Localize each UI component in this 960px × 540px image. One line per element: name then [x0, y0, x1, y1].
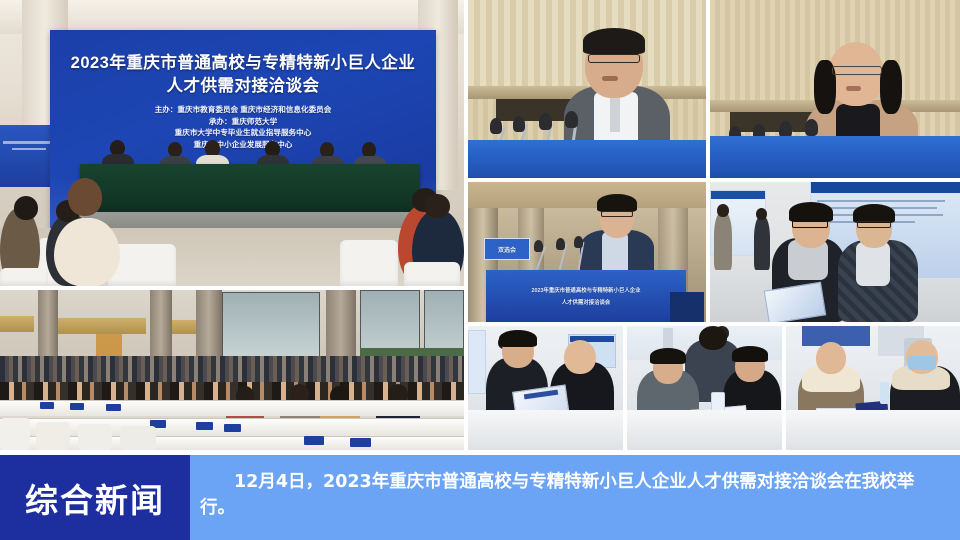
- photo-podium-speaker: 双选会 2023年重庆市普通高校与专精特新小巨人企业 人才供需对接洽谈会: [468, 182, 706, 322]
- photo-audience-hall: [0, 290, 464, 450]
- backdrop-sub-line1: 主办：重庆市教育委员会 重庆市经济和信息化委员会: [50, 104, 436, 116]
- caption-text: 12月4日，2023年重庆市普通高校与专精特新小巨人企业人才供需对接洽谈会在我校…: [200, 469, 942, 521]
- photo-press-conference: 2023年重庆市普通高校与专精特新小巨人企业 人才供需对接洽谈会 主办：重庆市教…: [0, 0, 464, 286]
- backdrop-sub-line3: 重庆市大学中专毕业生就业指导服务中心: [50, 127, 436, 139]
- caption-bar: 综合新闻 12月4日，2023年重庆市普通高校与专精特新小巨人企业人才供需对接洽…: [0, 455, 960, 540]
- rostrum: [468, 140, 706, 178]
- backdrop-sub-line2: 承办：重庆师范大学: [50, 116, 436, 128]
- photo-booth-signing: [627, 326, 782, 450]
- news-category-badge: 综合新闻: [0, 455, 190, 540]
- podium: 2023年重庆市普通高校与专精特新小巨人企业 人才供需对接洽谈会: [486, 270, 686, 322]
- photo-two-students: [710, 182, 960, 322]
- photo-female-speaker: [710, 0, 960, 178]
- photo-booth-women: [786, 326, 960, 450]
- photo-booth-pair: [468, 326, 623, 450]
- backdrop-title-line2: 人才供需对接洽谈会: [50, 72, 436, 96]
- caption-body: 12月4日，2023年重庆市普通高校与专精特新小巨人企业人才供需对接洽谈会在我校…: [190, 455, 960, 540]
- backdrop-sub-line4: 重庆市中小企业发展服务中心: [50, 139, 436, 151]
- head-table: [80, 164, 420, 216]
- side-sign: 双选会: [484, 238, 530, 260]
- news-collage-page: 2023年重庆市普通高校与专精特新小巨人企业 人才供需对接洽谈会 主办：重庆市教…: [0, 0, 960, 540]
- photo-male-speaker: [468, 0, 706, 178]
- backdrop-title-line1: 2023年重庆市普通高校与专精特新小巨人企业: [50, 49, 436, 73]
- news-category-label: 综合新闻: [0, 455, 190, 540]
- rostrum: [710, 136, 960, 178]
